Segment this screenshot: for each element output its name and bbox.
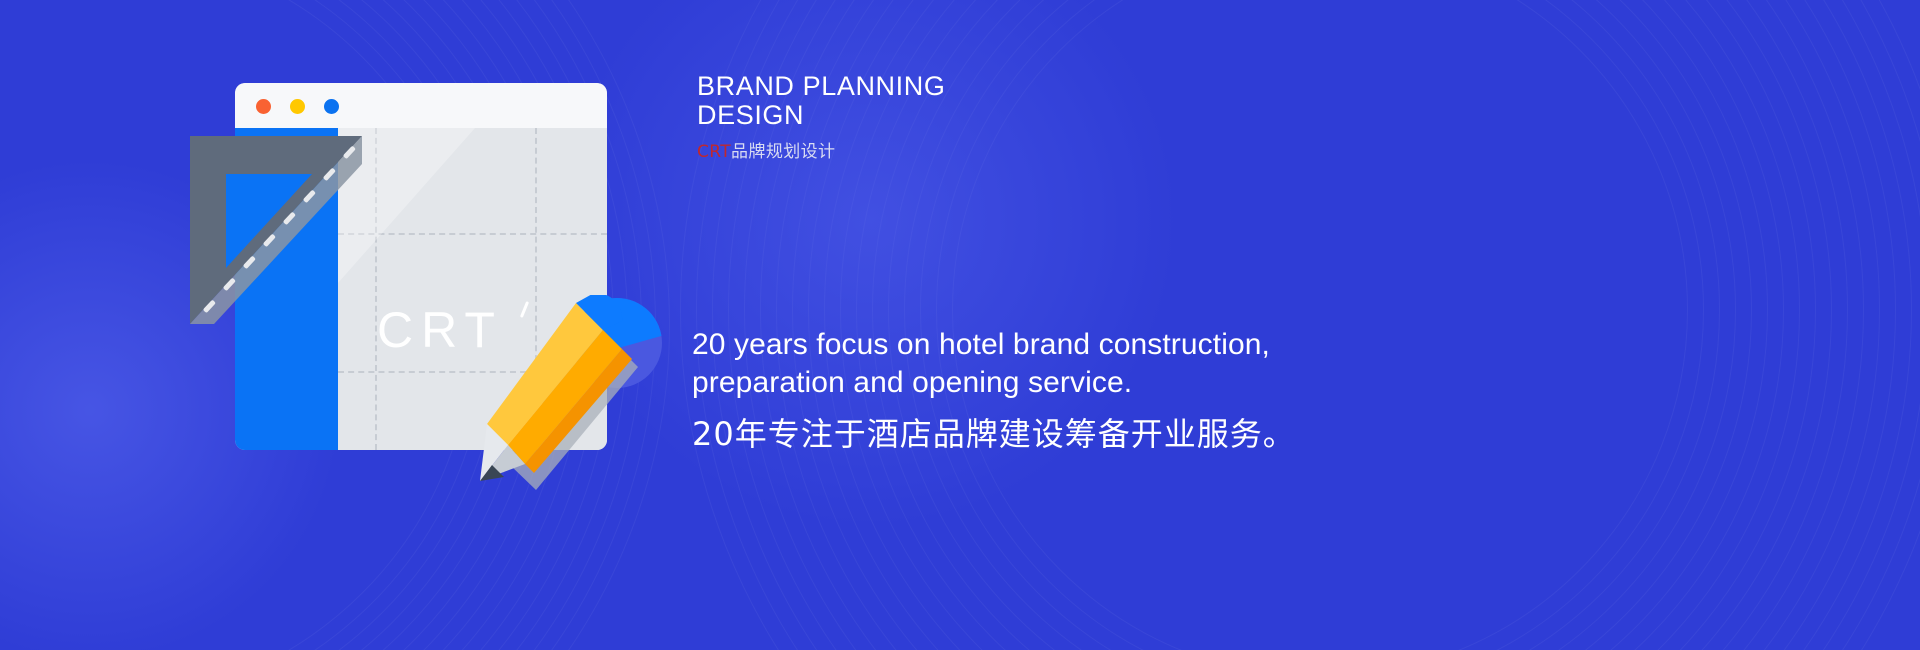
hero-banner: CRT: [0, 0, 1920, 650]
headline-line-1: BRAND PLANNING: [697, 72, 1337, 101]
brand-design-illustration: CRT: [180, 60, 680, 480]
headline-line-2: DESIGN: [697, 101, 1337, 130]
pencil-icon: [470, 295, 685, 510]
tagline-cn: 20年专注于酒店品牌建设筹备开业服务。: [692, 414, 1372, 454]
heading-block: BRAND PLANNING DESIGN CRT品牌规划设计: [697, 72, 1337, 162]
tagline-block: 20 years focus on hotel brand constructi…: [692, 326, 1372, 454]
subheading: CRT品牌规划设计: [697, 137, 1337, 162]
set-square-ruler-icon: [180, 128, 370, 340]
tagline-en-line-2: preparation and opening service.: [692, 364, 1372, 402]
tagline-en-line-1: 20 years focus on hotel brand constructi…: [692, 326, 1372, 364]
subheading-brand: CRT: [697, 142, 731, 162]
subheading-text: 品牌规划设计: [731, 142, 835, 162]
